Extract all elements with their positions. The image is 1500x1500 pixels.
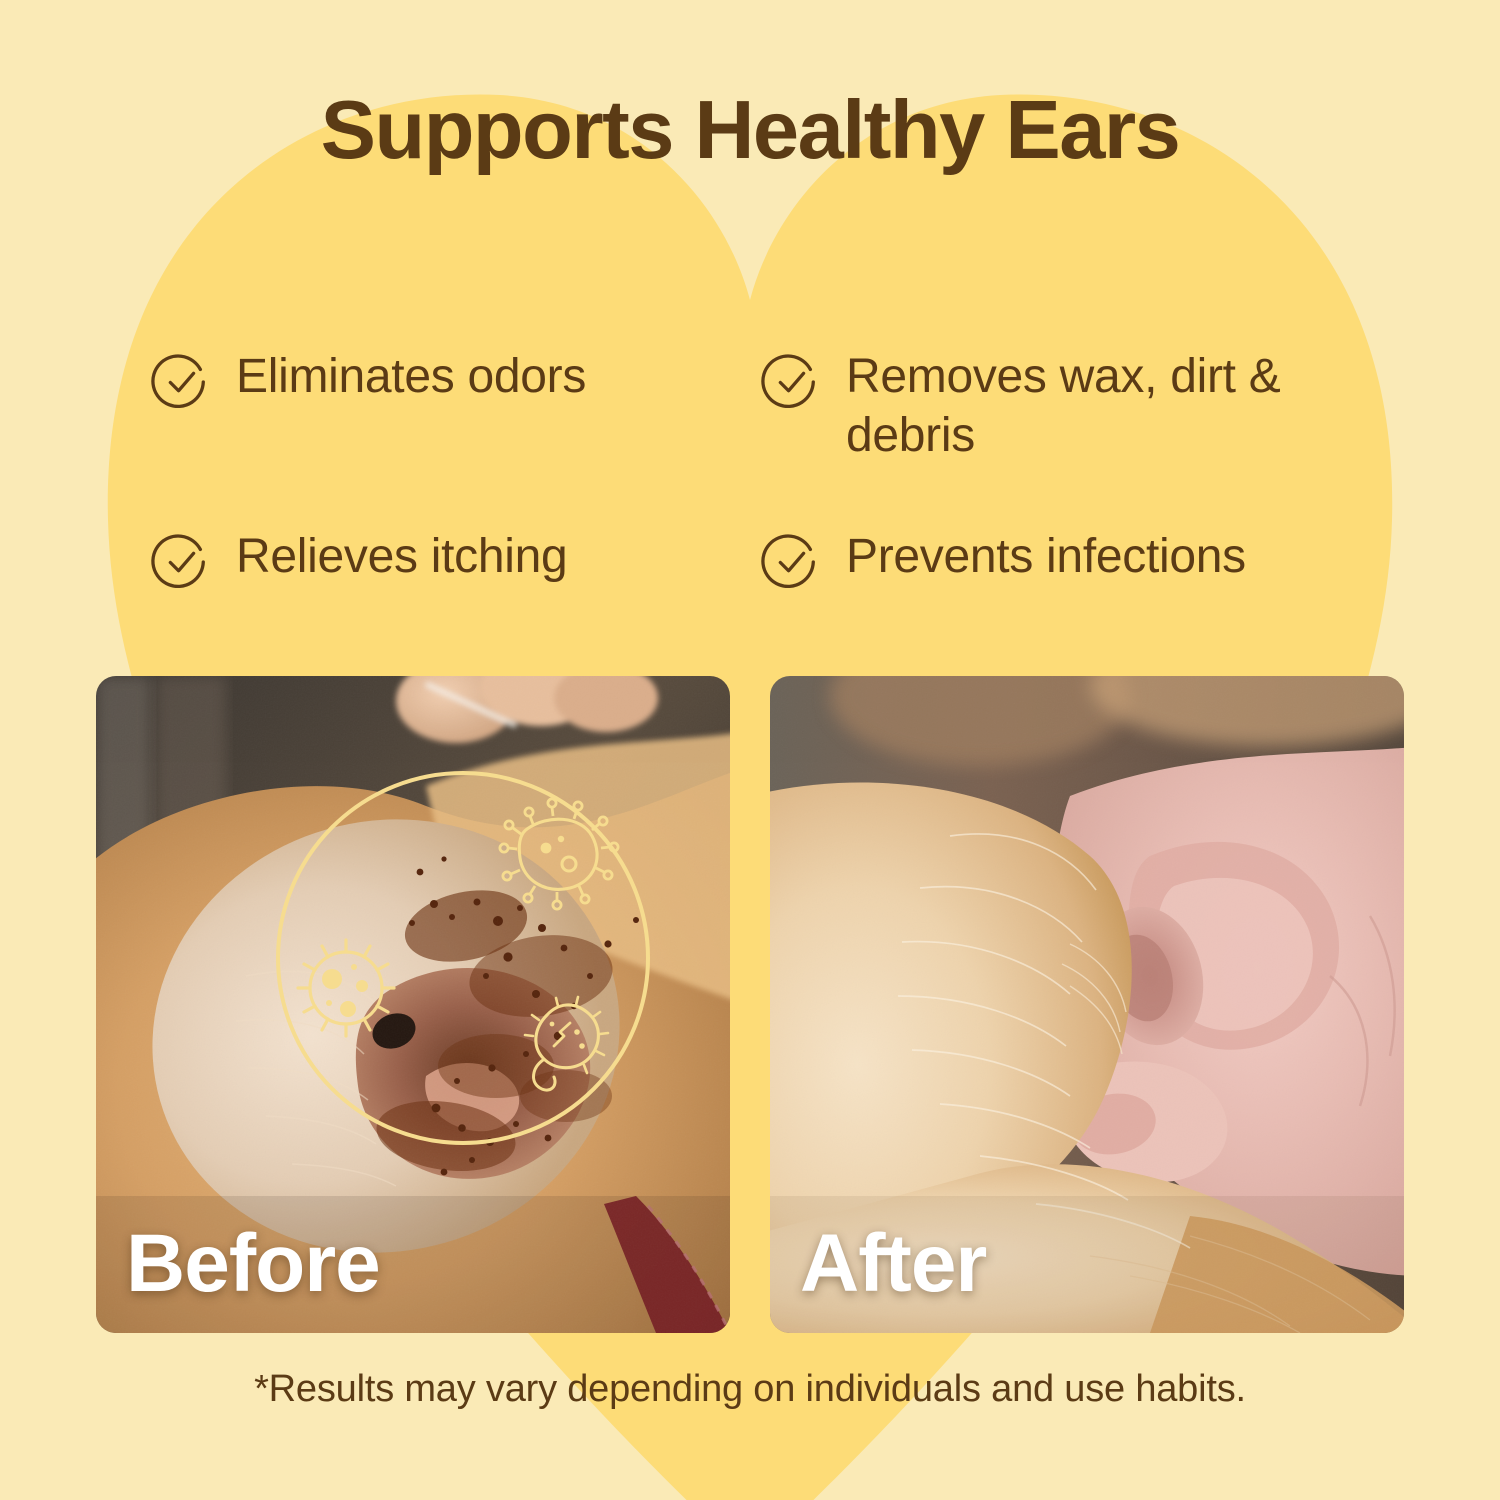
after-caption: After — [800, 1217, 986, 1311]
page-title: Supports Healthy Ears — [0, 82, 1500, 178]
before-after-comparison: Before — [96, 676, 1404, 1333]
before-caption: Before — [126, 1217, 380, 1311]
benefit-label: Removes wax, dirt & debris — [846, 348, 1380, 465]
disclaimer-text: *Results may vary depending on individua… — [0, 1368, 1500, 1411]
before-panel: Before — [96, 676, 730, 1333]
benefits-list: Eliminates odors Removes wax, dirt & deb… — [150, 348, 1380, 594]
check-circle-icon — [150, 352, 212, 414]
benefit-item-prevents-infections: Prevents infections — [760, 528, 1380, 594]
benefit-label: Relieves itching — [236, 528, 567, 587]
check-circle-icon — [760, 352, 822, 414]
benefit-label: Prevents infections — [846, 528, 1246, 587]
after-panel: After — [770, 676, 1404, 1333]
benefit-item-eliminates-odors: Eliminates odors — [150, 348, 760, 528]
benefit-label: Eliminates odors — [236, 348, 586, 407]
benefit-item-removes-wax: Removes wax, dirt & debris — [760, 348, 1380, 528]
check-circle-icon — [150, 532, 212, 594]
benefit-item-relieves-itching: Relieves itching — [150, 528, 760, 594]
check-circle-icon — [760, 532, 822, 594]
